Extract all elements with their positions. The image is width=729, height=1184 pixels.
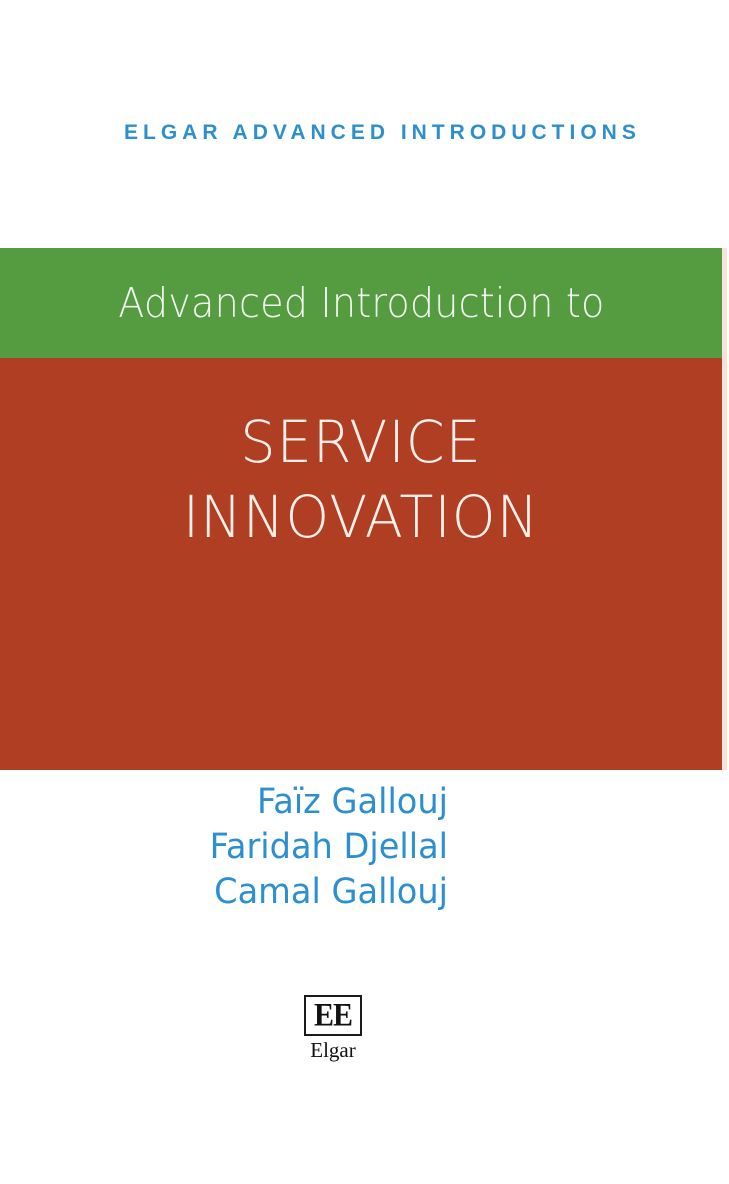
title-line-1: SERVICE — [14, 405, 707, 480]
book-title: SERVICE INNOVATION — [0, 405, 722, 556]
subtitle-container: Advanced Introduction to — [0, 248, 722, 358]
author-name: Faridah Djellal — [18, 825, 448, 870]
subtitle-text: Advanced Introduction to — [118, 279, 604, 327]
title-line-2: INNOVATION — [14, 480, 707, 555]
elgar-ee-monogram-icon: EE — [304, 995, 362, 1036]
publisher-logo: EE Elgar — [302, 995, 364, 1061]
author-name: Faïz Gallouj — [18, 780, 448, 825]
ee-monogram-text: EE — [314, 999, 352, 1031]
author-name: Camal Gallouj — [18, 870, 448, 915]
author-list: Faïz Gallouj Faridah Djellal Camal Gallo… — [0, 780, 448, 914]
publisher-name: Elgar — [302, 1040, 364, 1061]
color-block-edge-seam — [722, 248, 727, 770]
book-cover: ELGAR ADVANCED INTRODUCTIONS Advanced In… — [0, 0, 729, 1184]
series-strapline: ELGAR ADVANCED INTRODUCTIONS — [124, 122, 684, 143]
